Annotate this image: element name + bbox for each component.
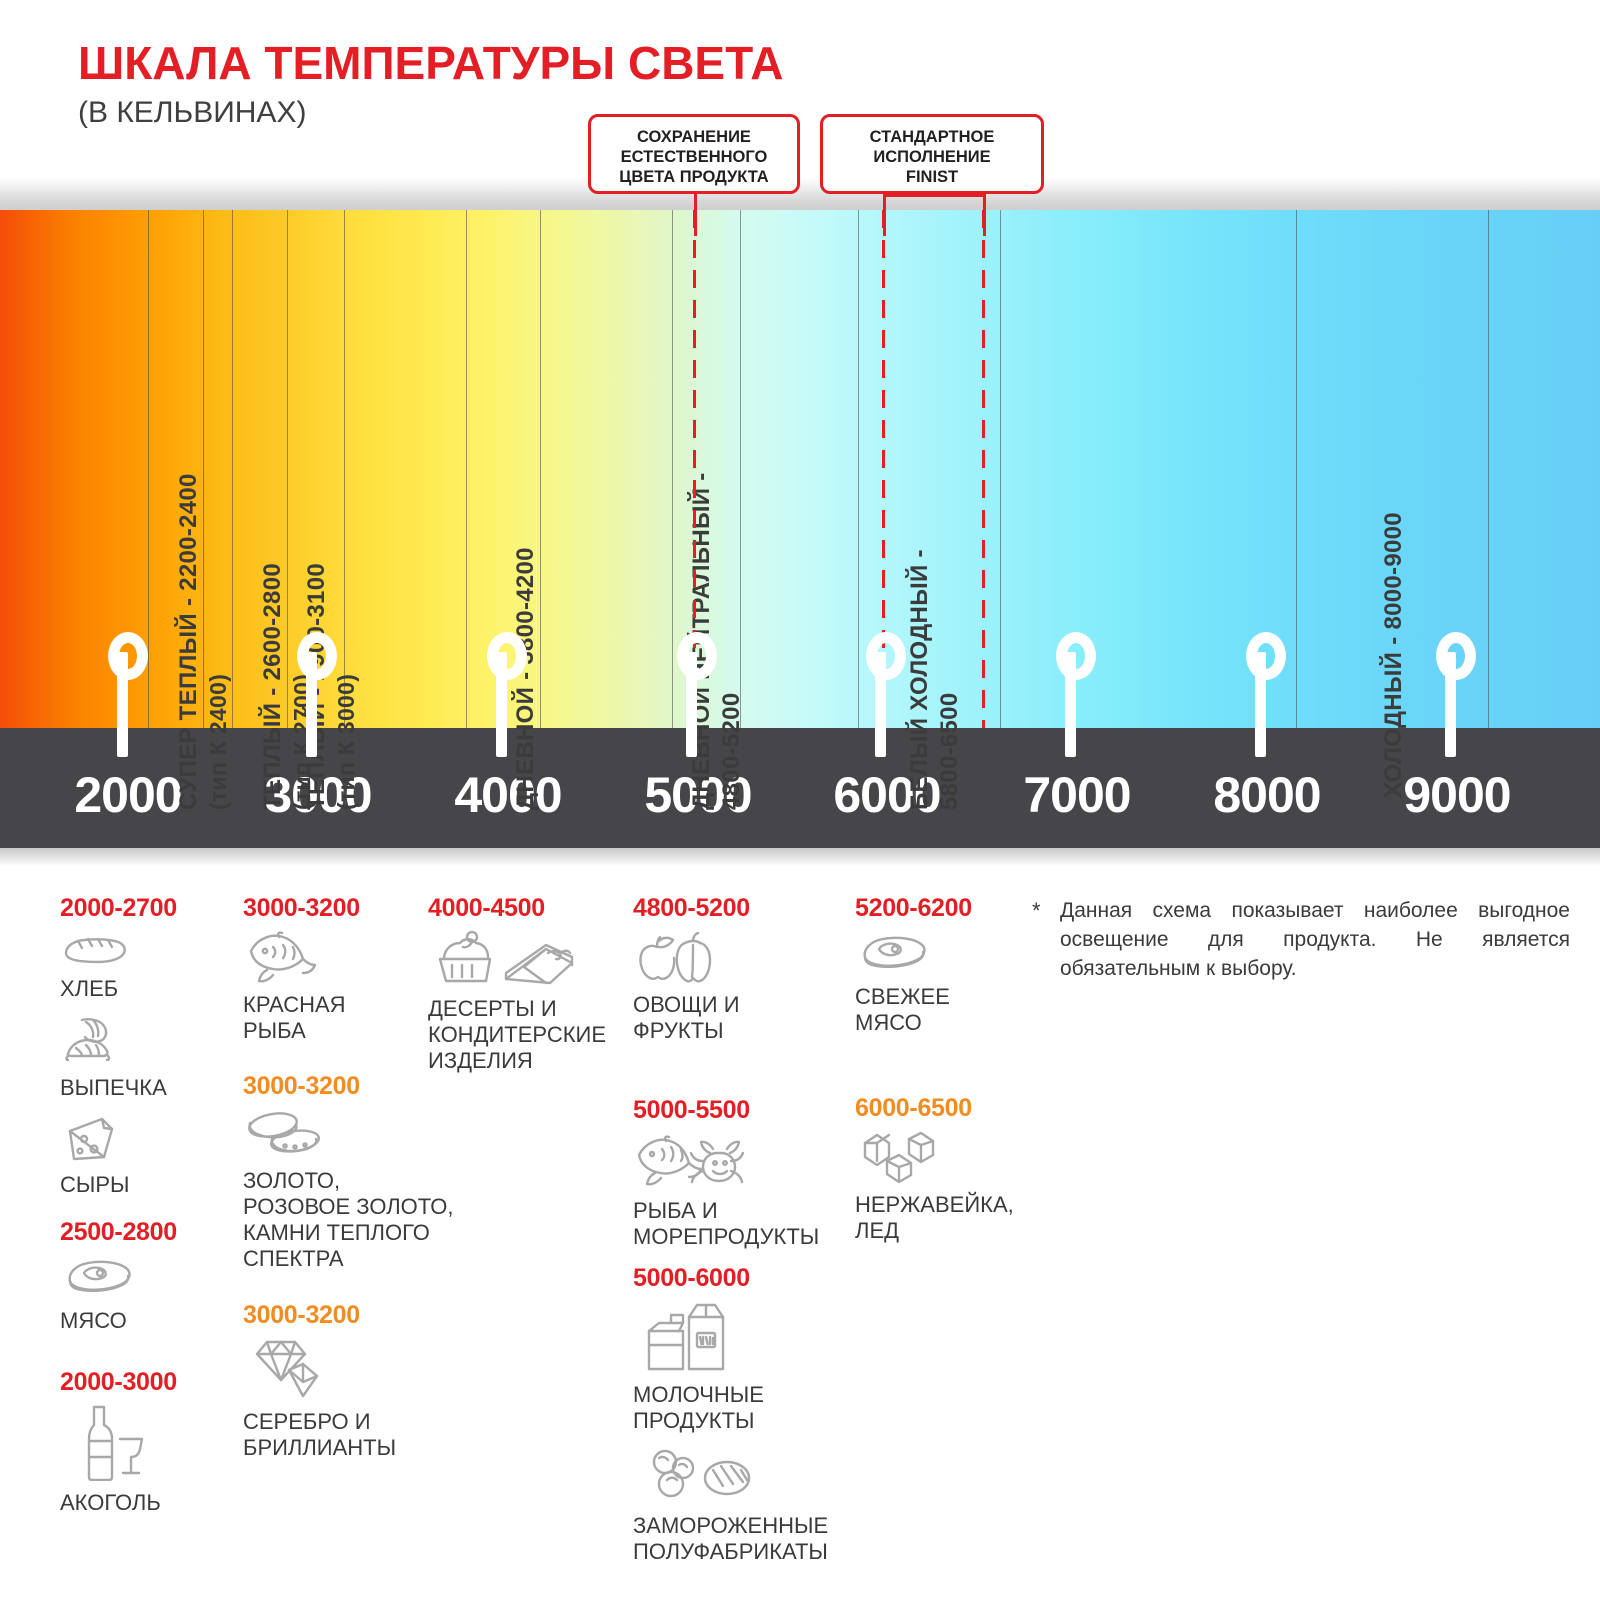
product-legend: 2000-2700 ХЛЕБ ВЫПЕЧКА [0,866,1600,1600]
marker-line-standard-end [982,210,985,728]
pastry-icon [60,1014,177,1071]
zone-separator [287,210,288,728]
zone-label-warm-3000-type: (тип К 3000) [333,674,360,810]
gradient-strip [0,210,1600,728]
diamond-icon [249,1338,396,1405]
redfish-icon [243,931,360,988]
zone-label-daylight: ДНЕВНОЙ - 3800-4200 [512,547,540,810]
legend-group: 5200-6200 СВЕЖЕЕ МЯСО [855,894,972,1036]
tick-ring [487,632,527,680]
zone-separator [1488,210,1489,728]
rings-icon [243,1109,453,1164]
callout-natural-stem [694,194,697,236]
range-label: 3000-3200 [243,1301,396,1330]
legend-item-label: ОВОЩИ И ФРУКТЫ [633,992,750,1044]
legend-item-label: КРАСНАЯ РЫБА [243,992,360,1044]
legend-item-label: РЫБА И МОРЕПРОДУКТЫ [633,1198,819,1250]
page-subtitle: (В КЕЛЬВИНАХ) [78,96,306,130]
legend-item-label: МЯСО [60,1308,177,1334]
legend-group: 3000-3200 СЕРЕБРО И БРИЛЛИАНТЫ [243,1301,396,1461]
legend-group: 6000-6500 НЕРЖАВЕЙКА, ЛЕД [855,1094,1014,1244]
callout-standard-stem-right [983,194,986,236]
color-temperature-gradient: СУПЕР ТЕПЛЫЙ - 2200-2400 (тип К 2400) ТЕ… [0,178,1600,728]
gradient-top-shadow [0,178,1600,210]
legend-group: 3000-3200 ЗОЛОТО, РОЗОВОЕ ЗОЛОТО, КАМНИ … [243,1072,453,1272]
zone-separator [672,210,673,728]
milk-icon [643,1301,868,1378]
legend-item-label: НЕРЖАВЕЙКА, ЛЕД [855,1192,1014,1244]
tick-ring [108,632,148,680]
legend-group: 4000-4500 ДЕСЕРТЫ И КОНДИТЕРСКИЕ ИЗДЕЛИЯ [428,894,606,1074]
callout-standard-stem-left [883,194,886,236]
legend-item-label: ЗАМОРОЖЕННЫЕ ПОЛУФАБРИКАТЫ [633,1513,868,1565]
tick-ring [677,632,717,680]
zone-separator [540,210,541,728]
tick-ring [1246,632,1286,680]
legend-group: 5000-6000 МОЛОЧНЫЕ ПРОДУКТЫ [633,1264,868,1565]
zone-separator [466,210,467,728]
zone-separator [232,210,233,728]
legend-group: 4800-5200 ОВОЩИ И ФРУКТЫ [633,894,750,1044]
range-label: 4800-5200 [633,894,750,923]
ice-icon [859,1131,1014,1188]
range-label: 2000-3000 [60,1368,177,1397]
range-label: 5000-5500 [633,1096,819,1125]
page-title: ШКАЛА ТЕМПЕРАТУРЫ СВЕТА [78,36,784,90]
zone-separator [1000,210,1001,728]
zone-label-super-warm-type: (тип К 2400) [205,674,232,810]
callout-standard-finist: СТАНДАРТНОЕ ИСПОЛНЕНИЕ FINIST [820,114,1044,194]
header: ШКАЛА ТЕМПЕРАТУРЫ СВЕТА (В КЕЛЬВИНАХ) [0,0,1600,200]
legend-item-label: ДЕСЕРТЫ И КОНДИТЕРСКИЕ ИЗДЕЛИЯ [428,996,606,1074]
tick-ring [866,632,906,680]
legend-item-label: СВЕЖЕЕ МЯСО [855,984,972,1036]
legend-group: 2500-2800 МЯСО [60,1218,177,1334]
zone-separator [1296,210,1297,728]
range-label: 6000-6500 [855,1094,1014,1123]
tick-ring [297,632,337,680]
range-label: 5200-6200 [855,894,972,923]
legend-item-label: ВЫПЕЧКА [60,1075,177,1101]
frozen-icon [643,1448,868,1509]
legend-item-label: АКОГОЛЬ [60,1490,177,1516]
callout-standard-stem-bridge [883,194,986,197]
fresh-meat-icon [855,931,972,980]
fruit-veg-icon [633,931,750,988]
tick-ring [1056,632,1096,680]
zone-separator [740,210,741,728]
cheese-icon [60,1113,177,1168]
footnote-marker: * [1032,896,1041,925]
zone-separator [858,210,859,728]
legend-group: 2000-2700 ХЛЕБ ВЫПЕЧКА [60,894,177,1198]
zone-separator [148,210,149,728]
footnote-text: Данная схема показывает наиболее выгодно… [1060,899,1570,980]
range-label: 5000-6000 [633,1264,868,1293]
zone-separator [203,210,204,728]
zone-label-white-cold-range: 5800-6500 [936,693,964,810]
zone-label-super-warm: СУПЕР ТЕПЛЫЙ - 2200-2400 [175,473,203,810]
range-label: 3000-3200 [243,1072,453,1101]
range-label: 2500-2800 [60,1218,177,1247]
zone-label-white-cold: БЕЛЫЙ ХОЛОДНЫЙ - [906,549,934,810]
range-label: 3000-3200 [243,894,360,923]
seafood-icon [633,1133,819,1194]
footnote: * Данная схема показывает наиболее выгод… [1060,896,1570,983]
legend-item-label: СЫРЫ [60,1172,177,1198]
legend-item-label: ЗОЛОТО, РОЗОВОЕ ЗОЛОТО, КАМНИ ТЕПЛОГО СП… [243,1168,453,1272]
zone-label-cold: ХОЛОДНЫЙ - 8000-9000 [1380,512,1408,798]
legend-item-label: СЕРЕБРО И БРИЛЛИАНТЫ [243,1409,396,1461]
callout-natural-color: СОХРАНЕНИЕ ЕСТЕСТВЕННОГО ЦВЕТА ПРОДУКТА [588,114,800,194]
bread-icon [60,931,177,972]
zone-label-warm-2700: ТЕПЛЫЙ - 2600-2800 [259,563,287,810]
legend-group: 2000-3000 АКОГОЛЬ [60,1368,177,1516]
legend-item-label: ХЛЕБ [60,976,177,1002]
scale-value-9000: 9000 [1342,766,1572,824]
steak-icon [60,1255,177,1304]
alcohol-icon [80,1405,177,1486]
range-label: 4000-4500 [428,894,606,923]
zone-separator [344,210,345,728]
legend-item-label: МОЛОЧНЫЕ ПРОДУКТЫ [633,1382,868,1434]
dessert-icon [428,931,606,992]
legend-group: 3000-3200 КРАСНАЯ РЫБА [243,894,360,1044]
scale-bar-shadow [0,848,1600,866]
range-label: 2000-2700 [60,894,177,923]
zone-label-daylight-neutral-range: 4800-5200 [718,693,746,810]
legend-group: 5000-5500 РЫБА И МОРЕПРОДУКТЫ [633,1096,819,1250]
tick-ring [1436,632,1476,680]
